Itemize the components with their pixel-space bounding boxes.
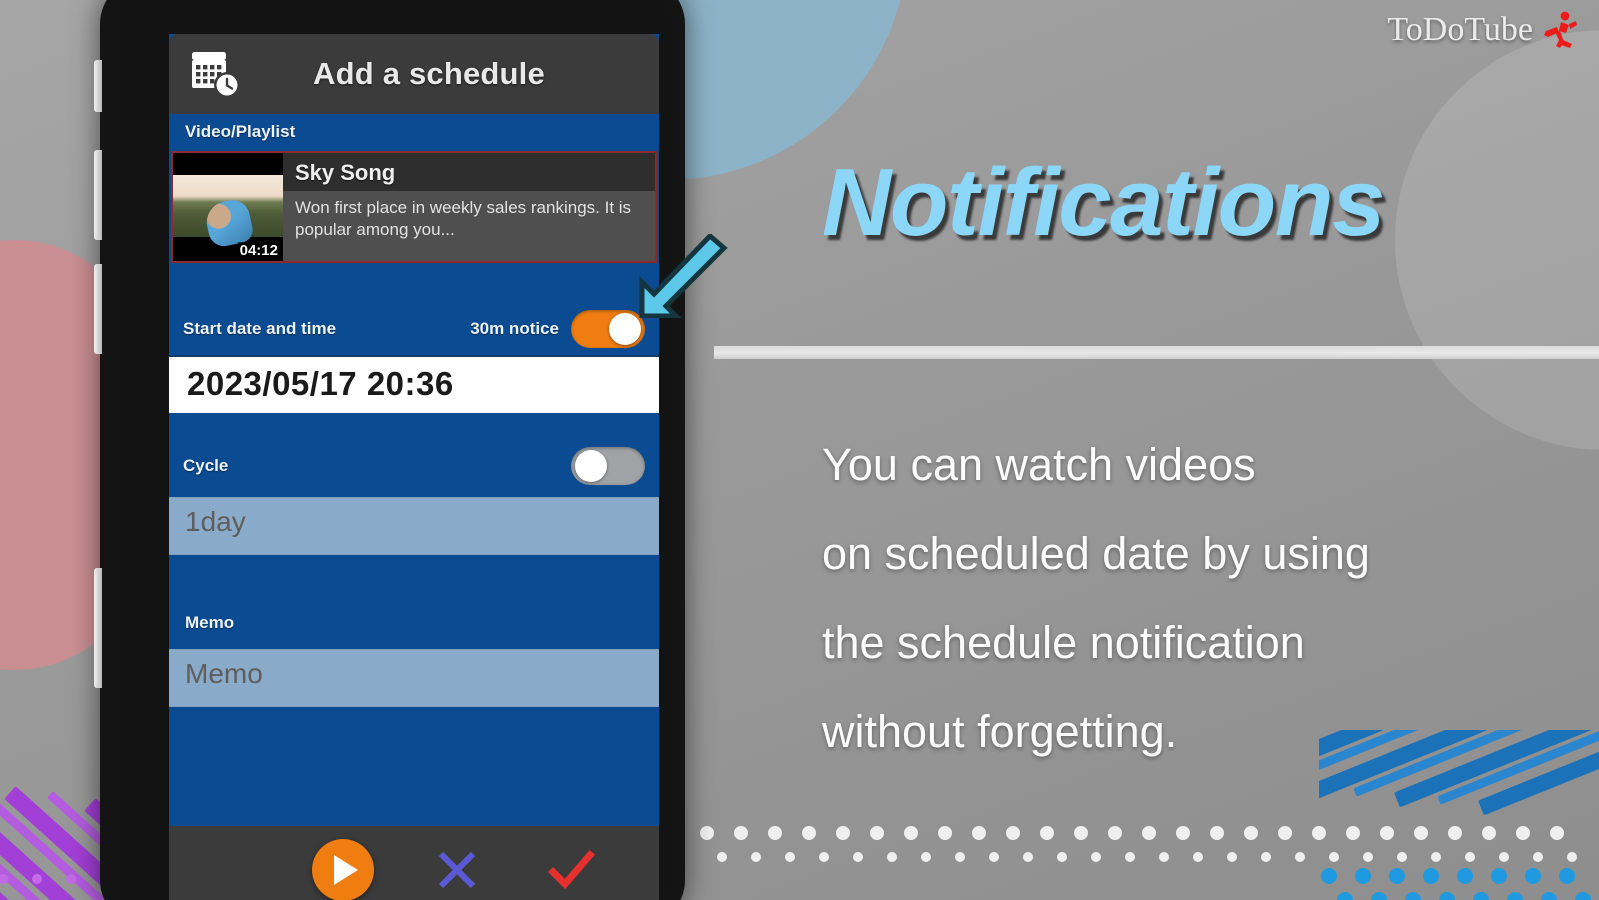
decor-dot — [32, 874, 42, 884]
brand-logo-text: ToDoTube — [1387, 11, 1533, 49]
video-thumbnail-image — [173, 175, 283, 237]
video-description: Won first place in weekly sales rankings… — [283, 191, 655, 261]
decor-dot — [1278, 826, 1292, 840]
notice-label: 30m notice — [470, 319, 559, 339]
decor-dot — [1431, 852, 1441, 862]
decor-dot — [1210, 826, 1224, 840]
decor-dot — [700, 826, 714, 840]
dialog-footer — [169, 826, 659, 900]
dialog-header: Add a schedule — [169, 34, 659, 114]
phone-button-2 — [94, 150, 102, 240]
video-duration-badge: 04:12 — [238, 242, 280, 259]
decor-dot — [1176, 826, 1190, 840]
play-icon — [334, 855, 358, 885]
decor-dot — [938, 826, 952, 840]
decor-dot — [717, 852, 727, 862]
cycle-value-field[interactable]: 1day — [169, 497, 659, 555]
decor-dot — [1567, 852, 1577, 862]
decor-dot — [836, 826, 850, 840]
decor-dot — [1329, 852, 1339, 862]
decor-dot — [1023, 852, 1033, 862]
decor-dot — [1414, 826, 1428, 840]
video-title: Sky Song — [283, 153, 655, 191]
phone-mockup: Add a schedule Video/Playlist 04:12 Sky … — [100, 0, 685, 900]
decor-dot — [1006, 826, 1020, 840]
decor-dot — [1516, 826, 1530, 840]
add-schedule-dialog: Add a schedule Video/Playlist 04:12 Sky … — [169, 34, 659, 900]
play-button[interactable] — [312, 839, 374, 900]
brand-logo: ToDoTube — [1387, 10, 1577, 50]
decor-dot — [1159, 852, 1169, 862]
decor-dot — [802, 826, 816, 840]
decor-dot — [751, 852, 761, 862]
decor-dot — [1499, 852, 1509, 862]
dialog-title: Add a schedule — [259, 56, 599, 92]
body-line: the schedule notification — [822, 598, 1542, 687]
decor-dot — [1371, 892, 1387, 900]
decor-dot — [1074, 826, 1088, 840]
video-playlist-label: Video/Playlist — [169, 114, 659, 151]
check-icon — [544, 843, 598, 897]
spacer-after-cycle — [169, 555, 659, 605]
decor-dot — [1193, 852, 1203, 862]
decor-dot — [1337, 892, 1353, 900]
decor-dot — [768, 826, 782, 840]
decor-dot — [989, 852, 999, 862]
cycle-row: Cycle — [169, 435, 659, 497]
decor-dot — [66, 874, 76, 884]
decor-dot — [853, 852, 863, 862]
decor-dot — [1507, 892, 1523, 900]
decor-dot — [1575, 892, 1591, 900]
decor-dot — [819, 852, 829, 862]
cycle-toggle[interactable] — [571, 447, 645, 485]
decor-dot — [1405, 892, 1421, 900]
decor-dot — [1040, 826, 1054, 840]
decor-dot — [1142, 826, 1156, 840]
decor-dot — [955, 852, 965, 862]
decor-dot — [921, 852, 931, 862]
memo-input[interactable]: Memo — [169, 649, 659, 707]
decor-dot — [870, 826, 884, 840]
calendar-clock-icon — [189, 47, 243, 101]
decor-dot — [785, 852, 795, 862]
cancel-button[interactable] — [426, 839, 488, 900]
cycle-toggle-knob — [575, 450, 607, 482]
decor-dot-band — [700, 818, 1599, 878]
body-line: You can watch videos — [822, 420, 1542, 509]
decor-dot — [1550, 826, 1564, 840]
slide-body-text: You can watch videos on scheduled date b… — [822, 420, 1542, 776]
decor-dot — [1295, 852, 1305, 862]
decor-dot — [1108, 826, 1122, 840]
cycle-label: Cycle — [183, 456, 228, 476]
phone-button-4 — [94, 568, 102, 688]
decor-dot — [887, 852, 897, 862]
confirm-button[interactable] — [540, 839, 602, 900]
spacer-before-footer — [169, 707, 659, 826]
decor-dot — [1439, 892, 1455, 900]
decor-dot — [1482, 826, 1496, 840]
decor-dot — [1465, 852, 1475, 862]
decor-dot — [1125, 852, 1135, 862]
body-line: on scheduled date by using — [822, 509, 1542, 598]
decor-dot — [972, 826, 986, 840]
arrow-down-left-icon — [632, 234, 736, 318]
video-thumbnail: 04:12 — [173, 153, 283, 261]
headline-divider — [714, 346, 1599, 359]
decor-dot — [1363, 852, 1373, 862]
start-datetime-field[interactable]: 2023/05/17 20:36 — [169, 355, 659, 413]
phone-button-1 — [94, 60, 102, 112]
spacer-after-date — [169, 413, 659, 435]
decor-dot — [1057, 852, 1067, 862]
slide-headline: Notifications — [822, 148, 1384, 258]
decor-dot — [1541, 892, 1557, 900]
body-line: without forgetting. — [822, 687, 1542, 776]
decor-dot — [1227, 852, 1237, 862]
spacer-after-video — [169, 263, 659, 303]
phone-button-3 — [94, 264, 102, 354]
decor-dot — [1533, 852, 1543, 862]
decor-dot — [1261, 852, 1271, 862]
start-datetime-label: Start date and time — [183, 319, 336, 339]
decor-dot — [904, 826, 918, 840]
decor-dot — [1397, 852, 1407, 862]
phone-screen: Add a schedule Video/Playlist 04:12 Sky … — [114, 0, 671, 900]
decor-dot — [1473, 892, 1489, 900]
decor-dot — [1346, 826, 1360, 840]
memo-label: Memo — [169, 605, 659, 649]
running-person-icon — [1539, 10, 1577, 50]
video-card-body: Sky Song Won first place in weekly sales… — [283, 153, 655, 261]
decor-dot — [734, 826, 748, 840]
close-x-icon — [430, 843, 484, 897]
decor-dot — [1244, 826, 1258, 840]
decor-dot — [1380, 826, 1394, 840]
decor-dot — [1091, 852, 1101, 862]
decor-dot — [1448, 826, 1462, 840]
decor-dot — [1312, 826, 1326, 840]
selected-video-card[interactable]: 04:12 Sky Song Won first place in weekly… — [171, 151, 657, 263]
start-datetime-row: Start date and time 30m notice — [169, 303, 659, 355]
